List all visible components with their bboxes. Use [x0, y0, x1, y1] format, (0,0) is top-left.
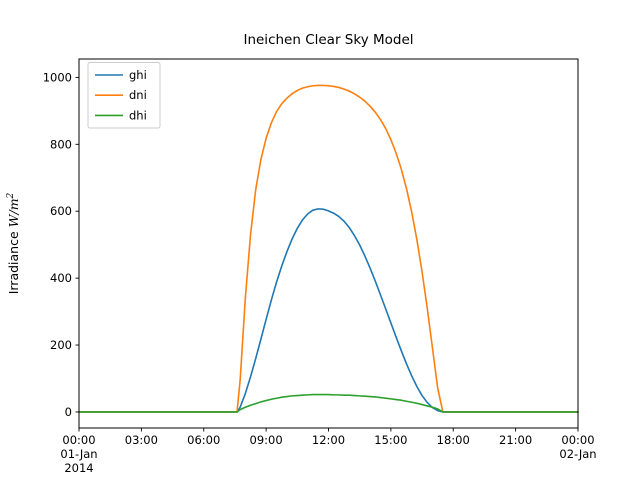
y-tick-label: 600 [50, 204, 72, 218]
y-tick-label: 0 [65, 405, 72, 419]
y-axis-label-exponent: 2 [6, 192, 16, 199]
svg-text:Irradiance W/m2: Irradiance W/m2 [6, 192, 21, 294]
y-axis-label-unit: W/m [6, 198, 21, 227]
x-axis-ticks: 00:0001-Jan201403:0006:0009:0012:0015:00… [60, 428, 596, 475]
legend-label-dni: dni [129, 88, 147, 102]
y-tick-label: 400 [50, 271, 72, 285]
y-tick-label: 1000 [43, 70, 72, 84]
x-tick-label-date: 01-Jan [60, 447, 97, 461]
clear-sky-line-chart: Ineichen Clear Sky Model Irradiance W/m2… [0, 0, 640, 480]
figure-canvas: Ineichen Clear Sky Model Irradiance W/m2… [0, 0, 640, 480]
x-tick-label-time: 21:00 [499, 433, 532, 447]
x-tick-label-time: 15:00 [374, 433, 407, 447]
x-tick-label-time: 00:00 [62, 433, 95, 447]
chart-title: Ineichen Clear Sky Model [243, 32, 413, 48]
legend-label-ghi: ghi [129, 68, 147, 82]
y-axis-ticks: 02004006008001000 [43, 70, 79, 419]
x-tick-label-time: 03:00 [125, 433, 158, 447]
y-axis-label-prefix: Irradiance [6, 227, 21, 294]
x-tick-label-time: 06:00 [187, 433, 220, 447]
y-tick-label: 200 [50, 338, 72, 352]
x-tick-label-year: 2014 [64, 461, 93, 475]
y-axis-label: Irradiance W/m2 [6, 192, 21, 294]
x-tick-label-time: 09:00 [250, 433, 283, 447]
x-tick-label-date: 02-Jan [559, 447, 596, 461]
x-tick-label-time: 12:00 [312, 433, 345, 447]
legend-label-dhi: dhi [129, 108, 147, 122]
x-tick-label-time: 18:00 [437, 433, 470, 447]
x-tick-label-time: 00:00 [561, 433, 594, 447]
legend[interactable]: ghi dni dhi [88, 63, 160, 129]
y-tick-label: 800 [50, 137, 72, 151]
